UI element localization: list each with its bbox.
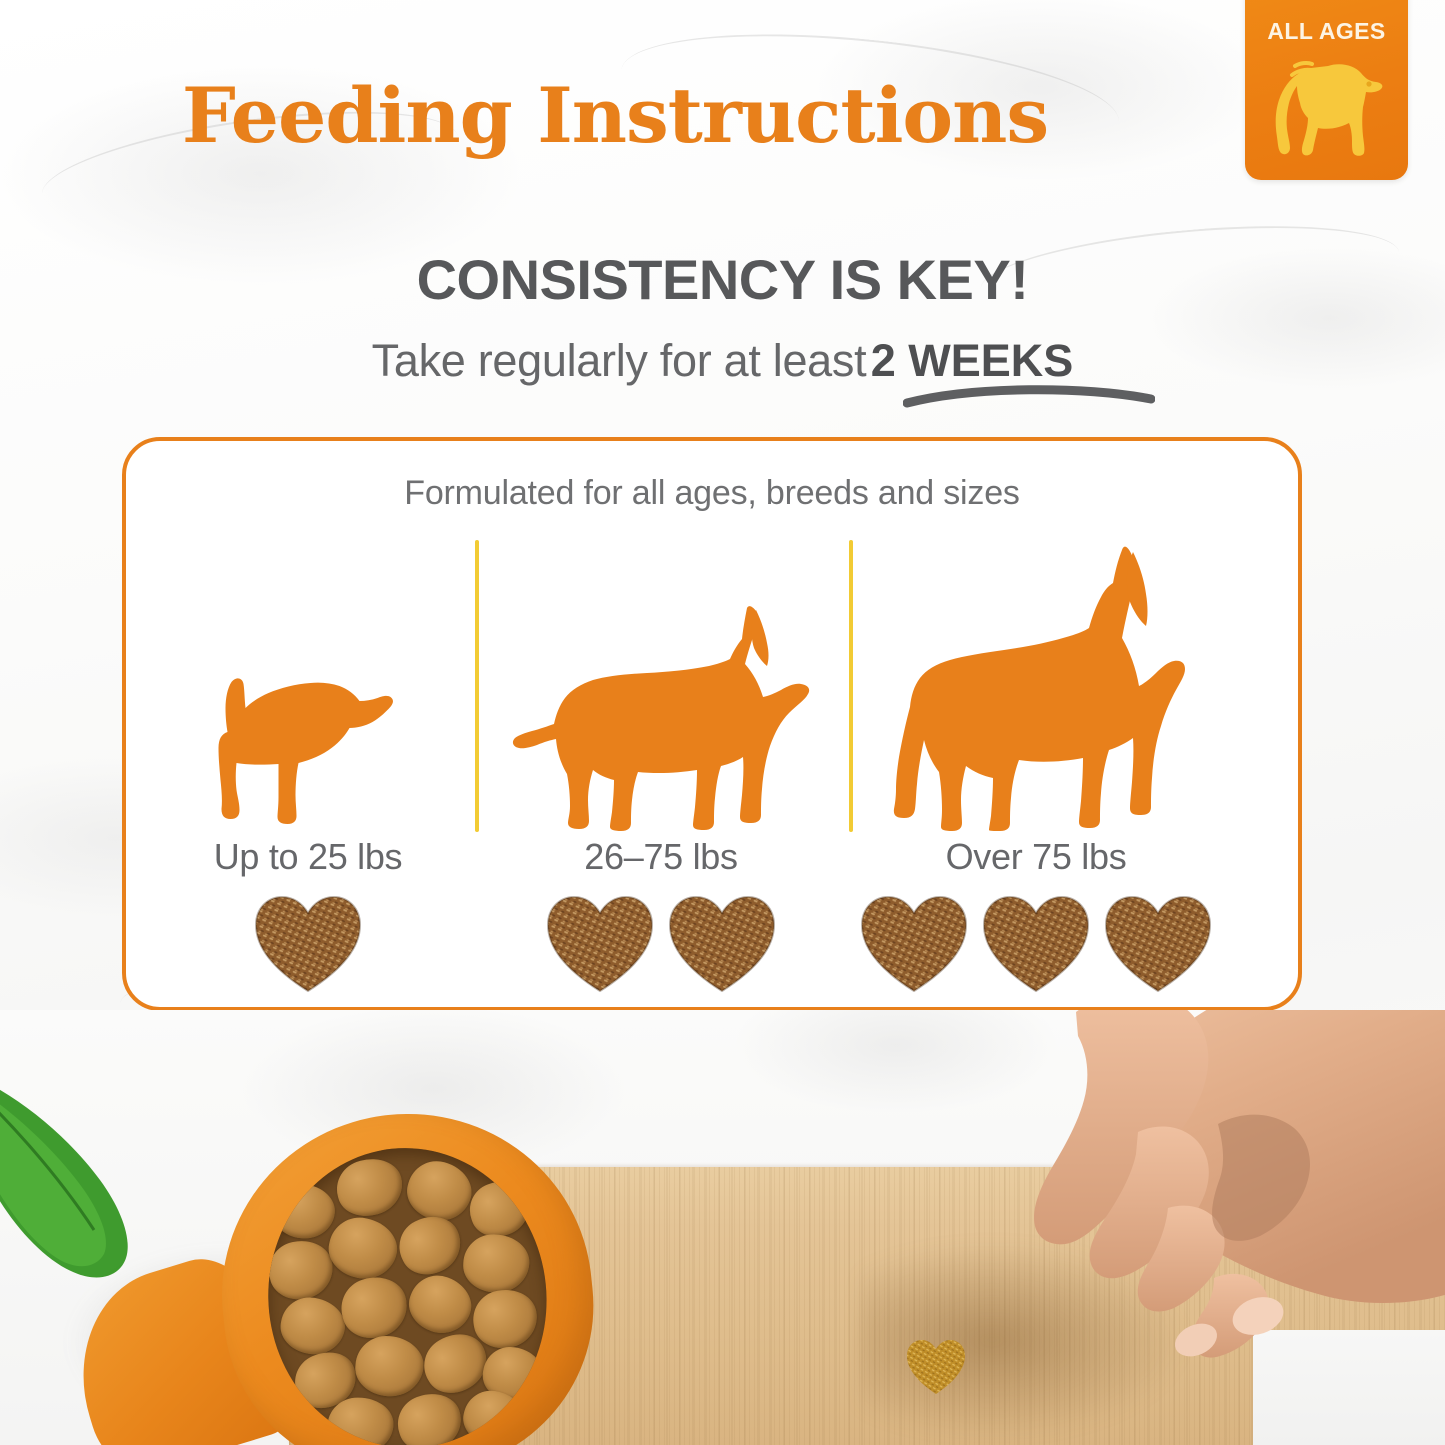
card-subtitle: Formulated for all ages, breeds and size…: [126, 474, 1298, 513]
serving-row-medium: [491, 891, 831, 995]
headline-secondary: Take regularly for at least 2 WEEKS: [0, 335, 1445, 387]
weight-label-medium: 26–75 lbs: [491, 836, 831, 878]
large-dog-icon: [866, 531, 1206, 831]
held-kibble-piece: [905, 1336, 967, 1398]
headline-secondary-emphasis: 2 WEEKS: [871, 335, 1074, 386]
hand-holding-kibble: [748, 1010, 1445, 1374]
column-divider: [849, 540, 853, 832]
feeding-instructions-page: Feeding Instructions ALL AGES CONSISTENC…: [0, 0, 1445, 1445]
size-column-large: Over 75 lbs: [866, 531, 1206, 1001]
sitting-dog-icon: [1266, 54, 1388, 163]
serving-row-small: [138, 891, 478, 995]
serving-row-large: [866, 891, 1206, 995]
weight-label-large: Over 75 lbs: [866, 836, 1206, 878]
kibble-heart-icon: [666, 891, 778, 995]
all-ages-badge: ALL AGES: [1245, 0, 1408, 180]
underline-swoosh: [903, 382, 1155, 408]
page-title: Feeding Instructions: [0, 78, 1230, 154]
all-ages-badge-label: ALL AGES: [1245, 18, 1408, 45]
kibble-heart-icon: [252, 891, 364, 995]
bowl-contents: [254, 1134, 562, 1445]
size-column-small: Up to 25 lbs: [138, 531, 478, 1001]
headline-secondary-prefix: Take regularly for at least: [372, 335, 867, 386]
small-dog-icon: [138, 531, 478, 831]
kibble-heart-icon: [858, 891, 970, 995]
kibble-heart-icon: [980, 891, 1092, 995]
size-column-medium: 26–75 lbs: [491, 531, 831, 1001]
weight-label-small: Up to 25 lbs: [138, 836, 478, 878]
feeding-chart-card: Formulated for all ages, breeds and size…: [122, 437, 1302, 1011]
kibble-heart-icon: [1102, 891, 1214, 995]
kibble-heart-icon: [544, 891, 656, 995]
headline-primary: CONSISTENCY IS KEY!: [0, 247, 1445, 312]
product-photo-scene: [0, 1010, 1445, 1445]
medium-dog-icon: [491, 531, 831, 831]
